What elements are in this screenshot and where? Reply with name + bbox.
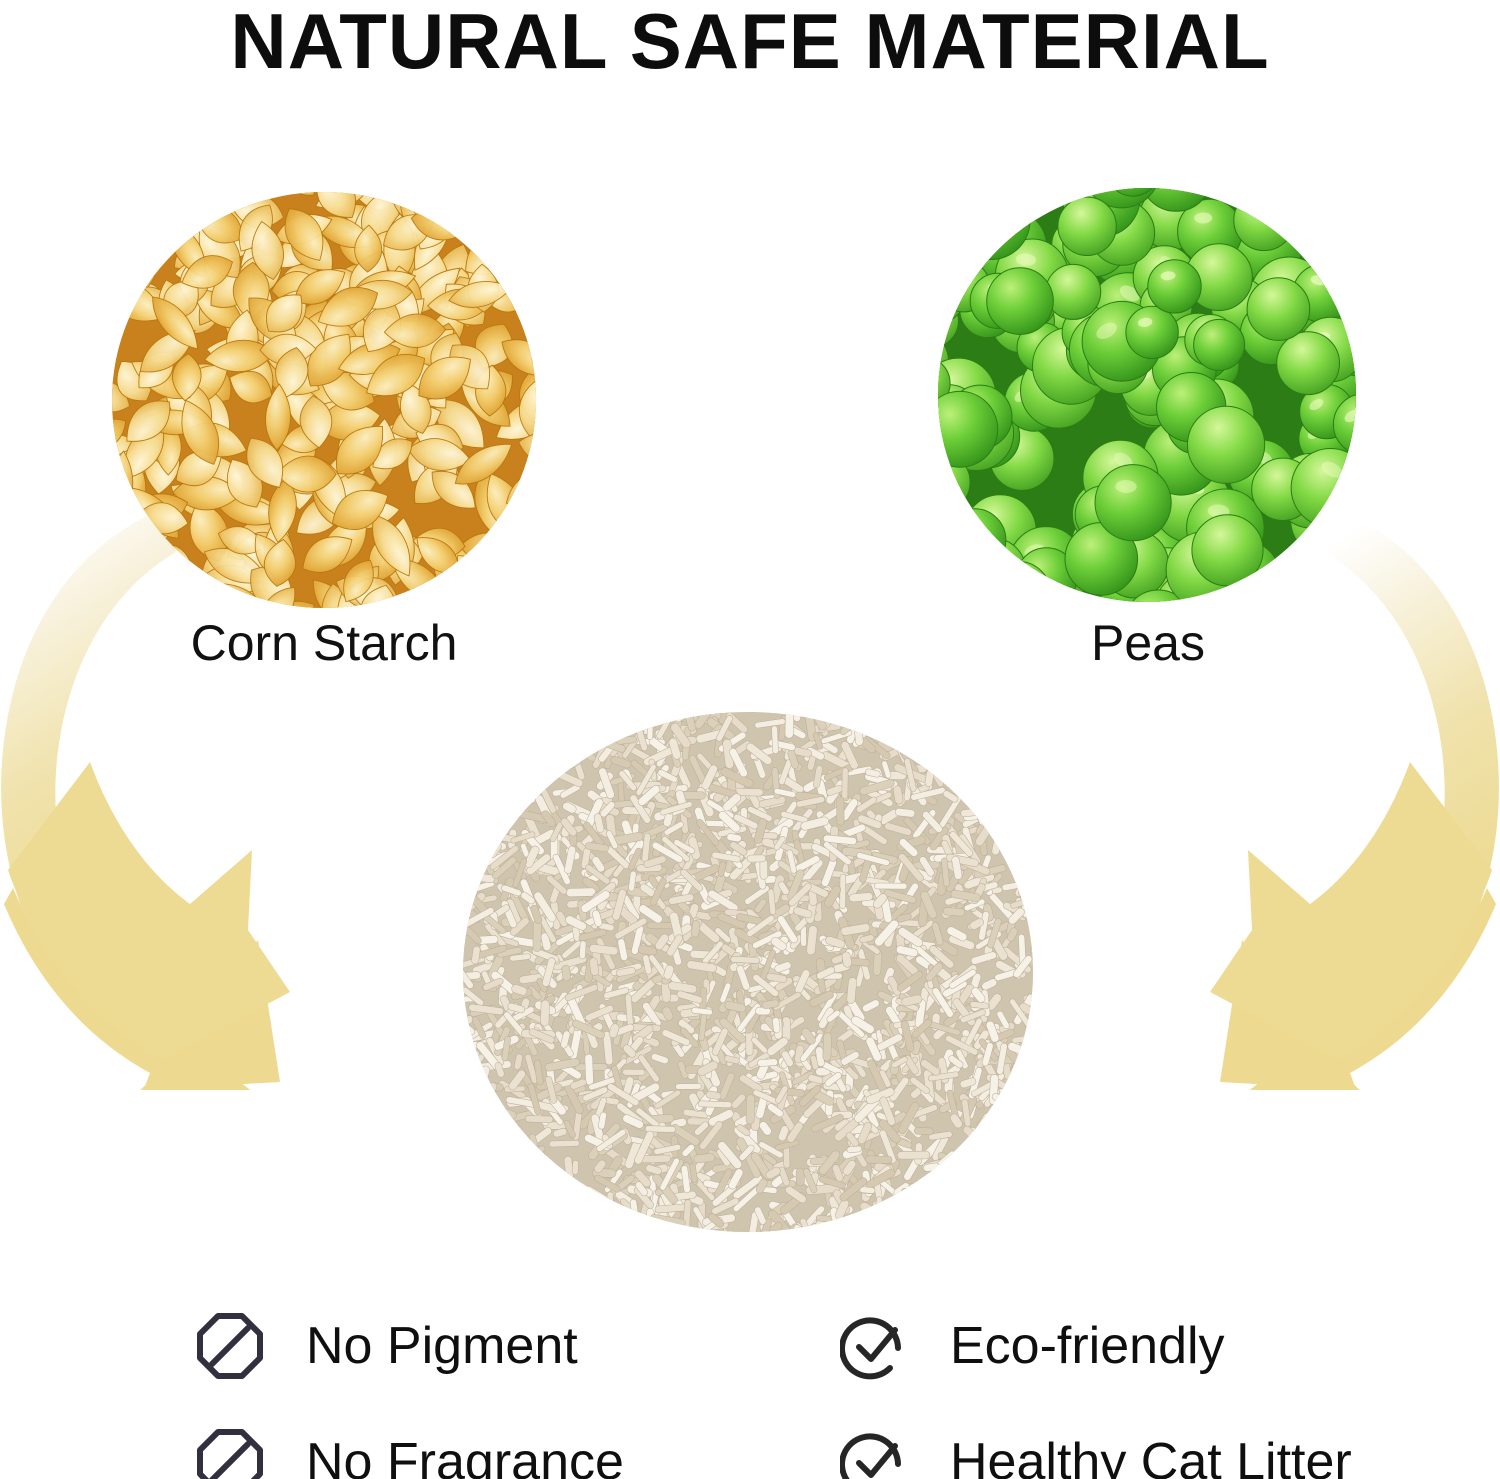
feature-label: No Pigment	[306, 1316, 578, 1376]
infographic-page: NATURAL SAFE MATERIAL	[0, 0, 1500, 1479]
feature-row: No Fragrance Healthy Cat Litter	[0, 1412, 1500, 1479]
feature-label: Eco-friendly	[950, 1316, 1225, 1376]
green-peas-texture	[938, 188, 1356, 602]
feature-eco-friendly: Eco-friendly	[840, 1296, 1225, 1396]
no-entry-octagon-icon	[196, 1312, 264, 1380]
peas-label: Peas	[888, 614, 1408, 672]
check-circle-icon	[840, 1428, 908, 1479]
check-circle-icon	[840, 1312, 908, 1380]
peas-image	[938, 188, 1356, 602]
feature-label: No Fragrance	[306, 1432, 624, 1479]
corn-starch-image	[112, 192, 536, 608]
no-entry-octagon-icon	[196, 1428, 264, 1479]
feature-no-pigment: No Pigment	[196, 1296, 578, 1396]
corn-starch-label: Corn Starch	[64, 614, 584, 672]
corn-kernels-texture	[112, 192, 536, 608]
feature-list: No Pigment Eco-friendly No Fragrance	[0, 1296, 1500, 1479]
cat-litter-image	[463, 712, 1033, 1232]
litter-pellets-texture	[463, 712, 1033, 1232]
feature-no-fragrance: No Fragrance	[196, 1412, 624, 1479]
feature-label: Healthy Cat Litter	[950, 1432, 1352, 1479]
feature-row: No Pigment Eco-friendly	[0, 1296, 1500, 1412]
feature-healthy-cat-litter: Healthy Cat Litter	[840, 1412, 1352, 1479]
page-title: NATURAL SAFE MATERIAL	[0, 0, 1500, 82]
